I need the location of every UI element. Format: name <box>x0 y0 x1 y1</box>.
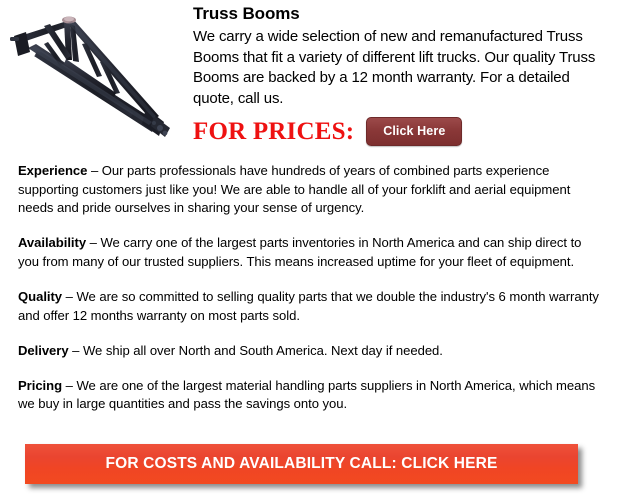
page-title: Truss Booms <box>193 4 609 24</box>
feature-paragraph-quality: Quality – We are so committed to selling… <box>18 288 603 325</box>
cta-label: FOR COSTS AND AVAILABILITY CALL: CLICK H… <box>106 455 498 473</box>
features-list: Experience – Our parts professionals hav… <box>0 162 619 414</box>
feature-text: Our parts professionals have hundreds of… <box>18 163 570 215</box>
cta-call-button[interactable]: FOR COSTS AND AVAILABILITY CALL: CLICK H… <box>25 444 578 484</box>
for-prices-label: FOR PRICES: <box>193 119 354 145</box>
feature-dash: – <box>62 378 76 393</box>
feature-label: Delivery <box>18 343 69 358</box>
feature-text: We carry one of the largest parts invent… <box>18 235 581 269</box>
feature-label: Quality <box>18 289 62 304</box>
feature-label: Availability <box>18 235 86 250</box>
feature-label: Experience <box>18 163 87 178</box>
truss-boom-product-image <box>4 4 184 140</box>
feature-dash: – <box>62 289 76 304</box>
feature-label: Pricing <box>18 378 62 393</box>
feature-paragraph-delivery: Delivery – We ship all over North and So… <box>18 342 603 361</box>
product-intro-text: We carry a wide selection of new and rem… <box>193 27 609 109</box>
feature-dash: – <box>86 235 100 250</box>
feature-text: We ship all over North and South America… <box>83 343 443 358</box>
feature-text: We are one of the largest material handl… <box>18 378 595 412</box>
feature-paragraph-availability: Availability – We carry one of the large… <box>18 234 603 271</box>
feature-paragraph-experience: Experience – Our parts professionals hav… <box>18 162 603 218</box>
feature-paragraph-pricing: Pricing – We are one of the largest mate… <box>18 377 603 414</box>
click-here-button[interactable]: Click Here <box>366 117 462 146</box>
feature-text: We are so committed to selling quality p… <box>18 289 599 323</box>
product-intro-column: Truss Booms We carry a wide selection of… <box>193 4 609 146</box>
for-prices-row: FOR PRICES: Click Here <box>193 117 609 146</box>
feature-dash: – <box>87 163 101 178</box>
feature-dash: – <box>69 343 83 358</box>
product-header: Truss Booms We carry a wide selection of… <box>0 0 619 162</box>
cta-region: FOR COSTS AND AVAILABILITY CALL: CLICK H… <box>0 434 619 504</box>
